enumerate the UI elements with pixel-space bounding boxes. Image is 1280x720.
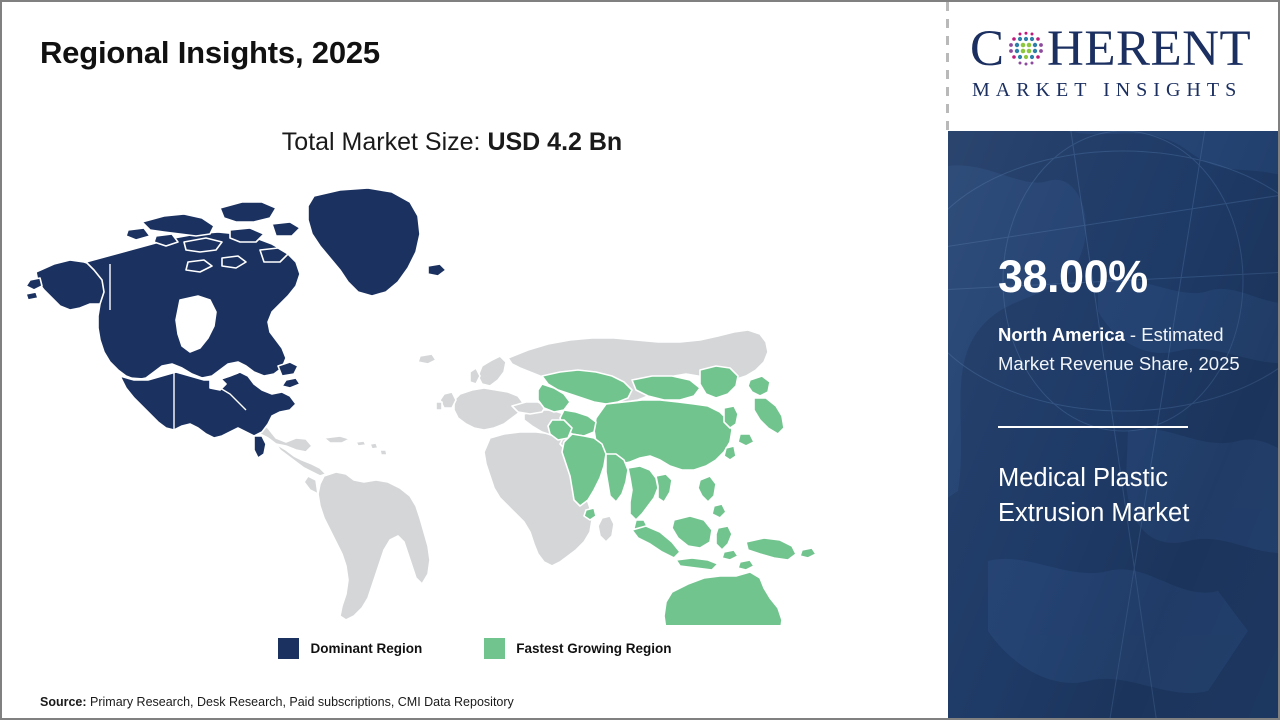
world-map-svg	[24, 180, 904, 625]
vertical-dashed-divider	[946, 2, 949, 131]
market-name: Medical Plastic Extrusion Market	[998, 461, 1248, 532]
revenue-share-caption: North America - Estimated Market Revenue…	[998, 321, 1266, 378]
page-title: Regional Insights, 2025	[40, 35, 380, 71]
logo-wordmark-rest: HERENT	[1047, 24, 1251, 75]
map-legend: Dominant Region Fastest Growing Region	[2, 638, 948, 659]
logo-letter-c: C	[970, 24, 1005, 75]
legend-label-fastest-growing: Fastest Growing Region	[516, 641, 671, 656]
map-region-dominant	[26, 188, 446, 458]
dotted-globe-icon	[1006, 29, 1046, 69]
source-text: Primary Research, Desk Research, Paid su…	[87, 695, 514, 709]
highlight-region-name: North America	[998, 324, 1125, 345]
total-market-size-value: USD 4.2 Bn	[487, 128, 622, 156]
panel-divider-rule	[998, 426, 1188, 428]
legend-item-fastest-growing: Fastest Growing Region	[484, 638, 671, 659]
regional-highlight-panel: 38.00% North America - Estimated Market …	[948, 131, 1278, 718]
brand-logo[interactable]: C	[962, 20, 1262, 116]
panel-content: 38.00% North America - Estimated Market …	[998, 131, 1274, 718]
world-map	[24, 180, 904, 625]
map-region-fastest-growing	[538, 366, 852, 625]
source-note: Source: Primary Research, Desk Research,…	[40, 695, 514, 709]
legend-swatch-icon	[278, 638, 299, 659]
left-content-pane: Regional Insights, 2025 Total Market Siz…	[2, 2, 948, 718]
legend-swatch-icon	[484, 638, 505, 659]
legend-label-dominant: Dominant Region	[310, 641, 422, 656]
total-market-size-label: Total Market Size:	[282, 128, 488, 156]
infographic-frame: Regional Insights, 2025 Total Market Siz…	[0, 0, 1280, 720]
revenue-share-value: 38.00%	[998, 254, 1148, 299]
source-label: Source:	[40, 695, 87, 709]
logo-tagline: MARKET INSIGHTS	[962, 79, 1262, 102]
total-market-size: Total Market Size: USD 4.2 Bn	[2, 128, 902, 157]
logo-wordmark-row: C	[962, 20, 1262, 78]
legend-item-dominant: Dominant Region	[278, 638, 422, 659]
